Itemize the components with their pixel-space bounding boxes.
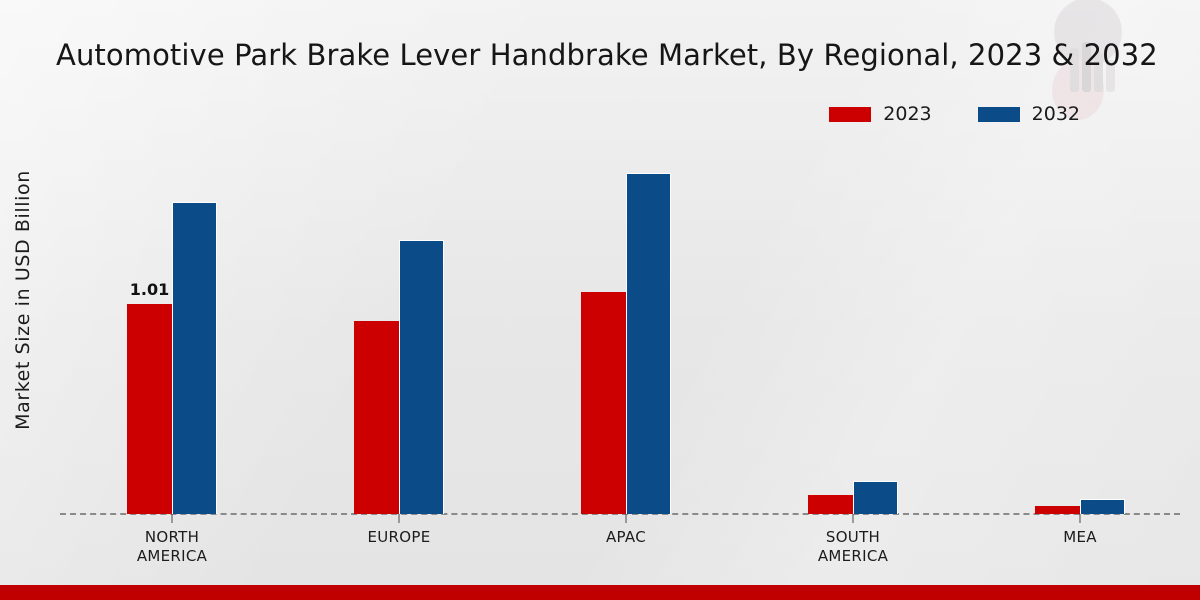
footer-accent-bar (0, 585, 1200, 600)
legend-label-2032: 2032 (1032, 103, 1080, 125)
bar-2032-0[interactable] (172, 202, 217, 514)
bar-group-4: MEA (1030, 140, 1130, 514)
chart-legend: 2023 2032 (829, 103, 1080, 125)
x-tick-4 (1080, 514, 1081, 523)
x-label-3: SOUTH AMERICA (818, 528, 888, 566)
bar-group-3: SOUTH AMERICA (803, 140, 903, 514)
bar-group-0: 1.01 NORTH AMERICA (122, 140, 222, 514)
bar-2032-4[interactable] (1080, 499, 1125, 514)
bar-2023-3[interactable] (808, 495, 853, 514)
bar-2032-2[interactable] (626, 173, 671, 514)
plot-area: 1.01 NORTH AMERICA EUROPE APAC (60, 140, 1180, 514)
bar-group-1: EUROPE (349, 140, 449, 514)
x-tick-0 (172, 514, 173, 523)
legend-swatch-2032 (978, 107, 1020, 122)
bar-2023-0[interactable]: 1.01 (127, 304, 172, 514)
legend-swatch-2023 (829, 107, 871, 122)
bar-2023-1[interactable] (354, 321, 399, 514)
x-label-1: EUROPE (367, 528, 430, 547)
bar-2023-4[interactable] (1035, 506, 1080, 514)
x-label-0: NORTH AMERICA (137, 528, 207, 566)
chart-container: Automotive Park Brake Lever Handbrake Ma… (0, 0, 1200, 600)
x-tick-1 (399, 514, 400, 523)
legend-item-2023[interactable]: 2023 (829, 103, 931, 125)
y-axis-title-text: Market Size in USD Billion (12, 170, 34, 430)
x-tick-3 (853, 514, 854, 523)
legend-label-2023: 2023 (883, 103, 931, 125)
bar-group-2: APAC (576, 140, 676, 514)
x-tick-2 (626, 514, 627, 523)
x-label-4: MEA (1063, 528, 1097, 547)
y-axis-title: Market Size in USD Billion (6, 0, 40, 600)
chart-title: Automotive Park Brake Lever Handbrake Ma… (56, 38, 1158, 72)
bar-value-label-0: 1.01 (130, 280, 169, 299)
bar-2032-1[interactable] (399, 240, 444, 514)
x-label-2: APAC (606, 528, 646, 547)
bar-2032-3[interactable] (853, 481, 898, 514)
legend-item-2032[interactable]: 2032 (978, 103, 1080, 125)
bar-2023-2[interactable] (581, 292, 626, 514)
